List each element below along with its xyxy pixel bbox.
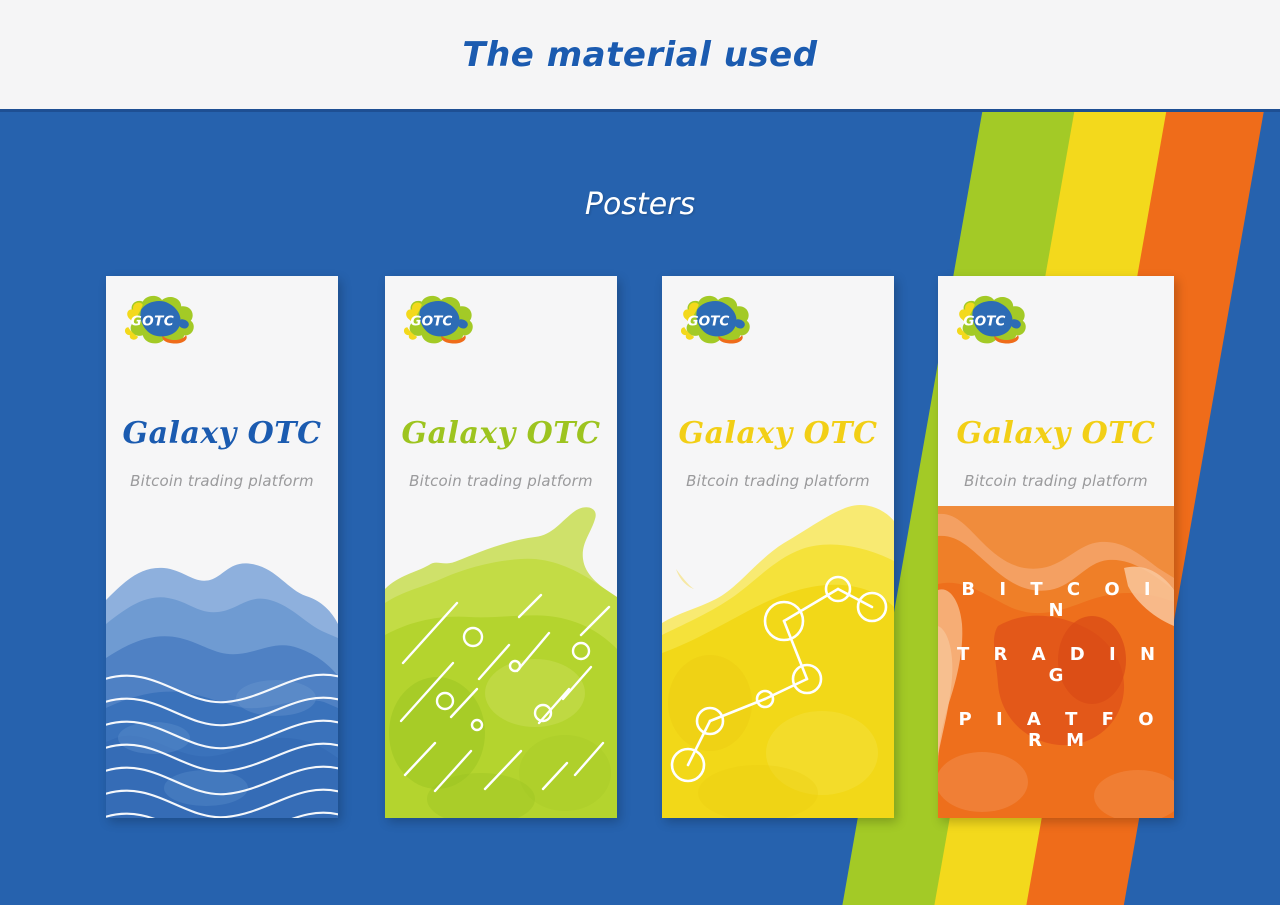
page-header: The material used	[0, 0, 1280, 112]
poster-tagline: Bitcoin trading platform	[938, 472, 1174, 490]
svg-text:GOTC: GOTC	[131, 314, 175, 330]
gotc-logo-icon: GOTC	[401, 292, 481, 348]
gotc-logo-icon: GOTC	[122, 292, 202, 348]
page-title: The material used	[462, 35, 817, 75]
poster-card-yellow[interactable]: GOTC Galaxy OTC Bitcoin trading platform	[662, 276, 894, 818]
poster-brand-name: Galaxy OTC	[662, 416, 894, 451]
poster-tagline: Bitcoin trading platform	[385, 472, 617, 490]
poster-brand-name: Galaxy OTC	[385, 416, 617, 451]
poster-artwork-comets	[385, 503, 617, 818]
poster-card-green[interactable]: GOTC Galaxy OTC Bitcoin trading platform	[385, 276, 617, 818]
svg-text:GOTC: GOTC	[963, 314, 1005, 330]
poster-artwork-waves	[106, 538, 338, 818]
svg-text:GOTC: GOTC	[410, 314, 452, 330]
poster-tagline: Bitcoin trading platform	[662, 472, 894, 490]
poster-brand-name: Galaxy OTC	[106, 416, 338, 451]
poster-card-orange[interactable]: GOTC Galaxy OTC Bitcoin trading platform	[938, 276, 1174, 818]
poster-tagline: Bitcoin trading platform	[106, 472, 338, 490]
poster-showcase-stage: Posters GOTC Galaxy OTC Bitcoin trading …	[0, 112, 1280, 905]
poster-card-blue[interactable]: GOTC Galaxy OTC Bitcoin trading platform	[106, 276, 338, 818]
gotc-logo-icon: GOTC	[678, 292, 758, 348]
headline-line-2: T R A D I N G	[947, 644, 1174, 686]
headline-line-3: P I A T F O R M	[947, 709, 1174, 751]
svg-text:GOTC: GOTC	[687, 314, 729, 330]
section-title: Posters	[0, 187, 1280, 222]
headline-line-1: B I T C O I N	[947, 579, 1174, 621]
gotc-logo-icon: GOTC	[954, 292, 1034, 348]
poster-brand-name: Galaxy OTC	[938, 416, 1174, 451]
poster-headline-block: B I T C O I N T R A D I N G P I A T F O …	[938, 556, 1174, 774]
poster-artwork-constellation	[662, 503, 894, 818]
